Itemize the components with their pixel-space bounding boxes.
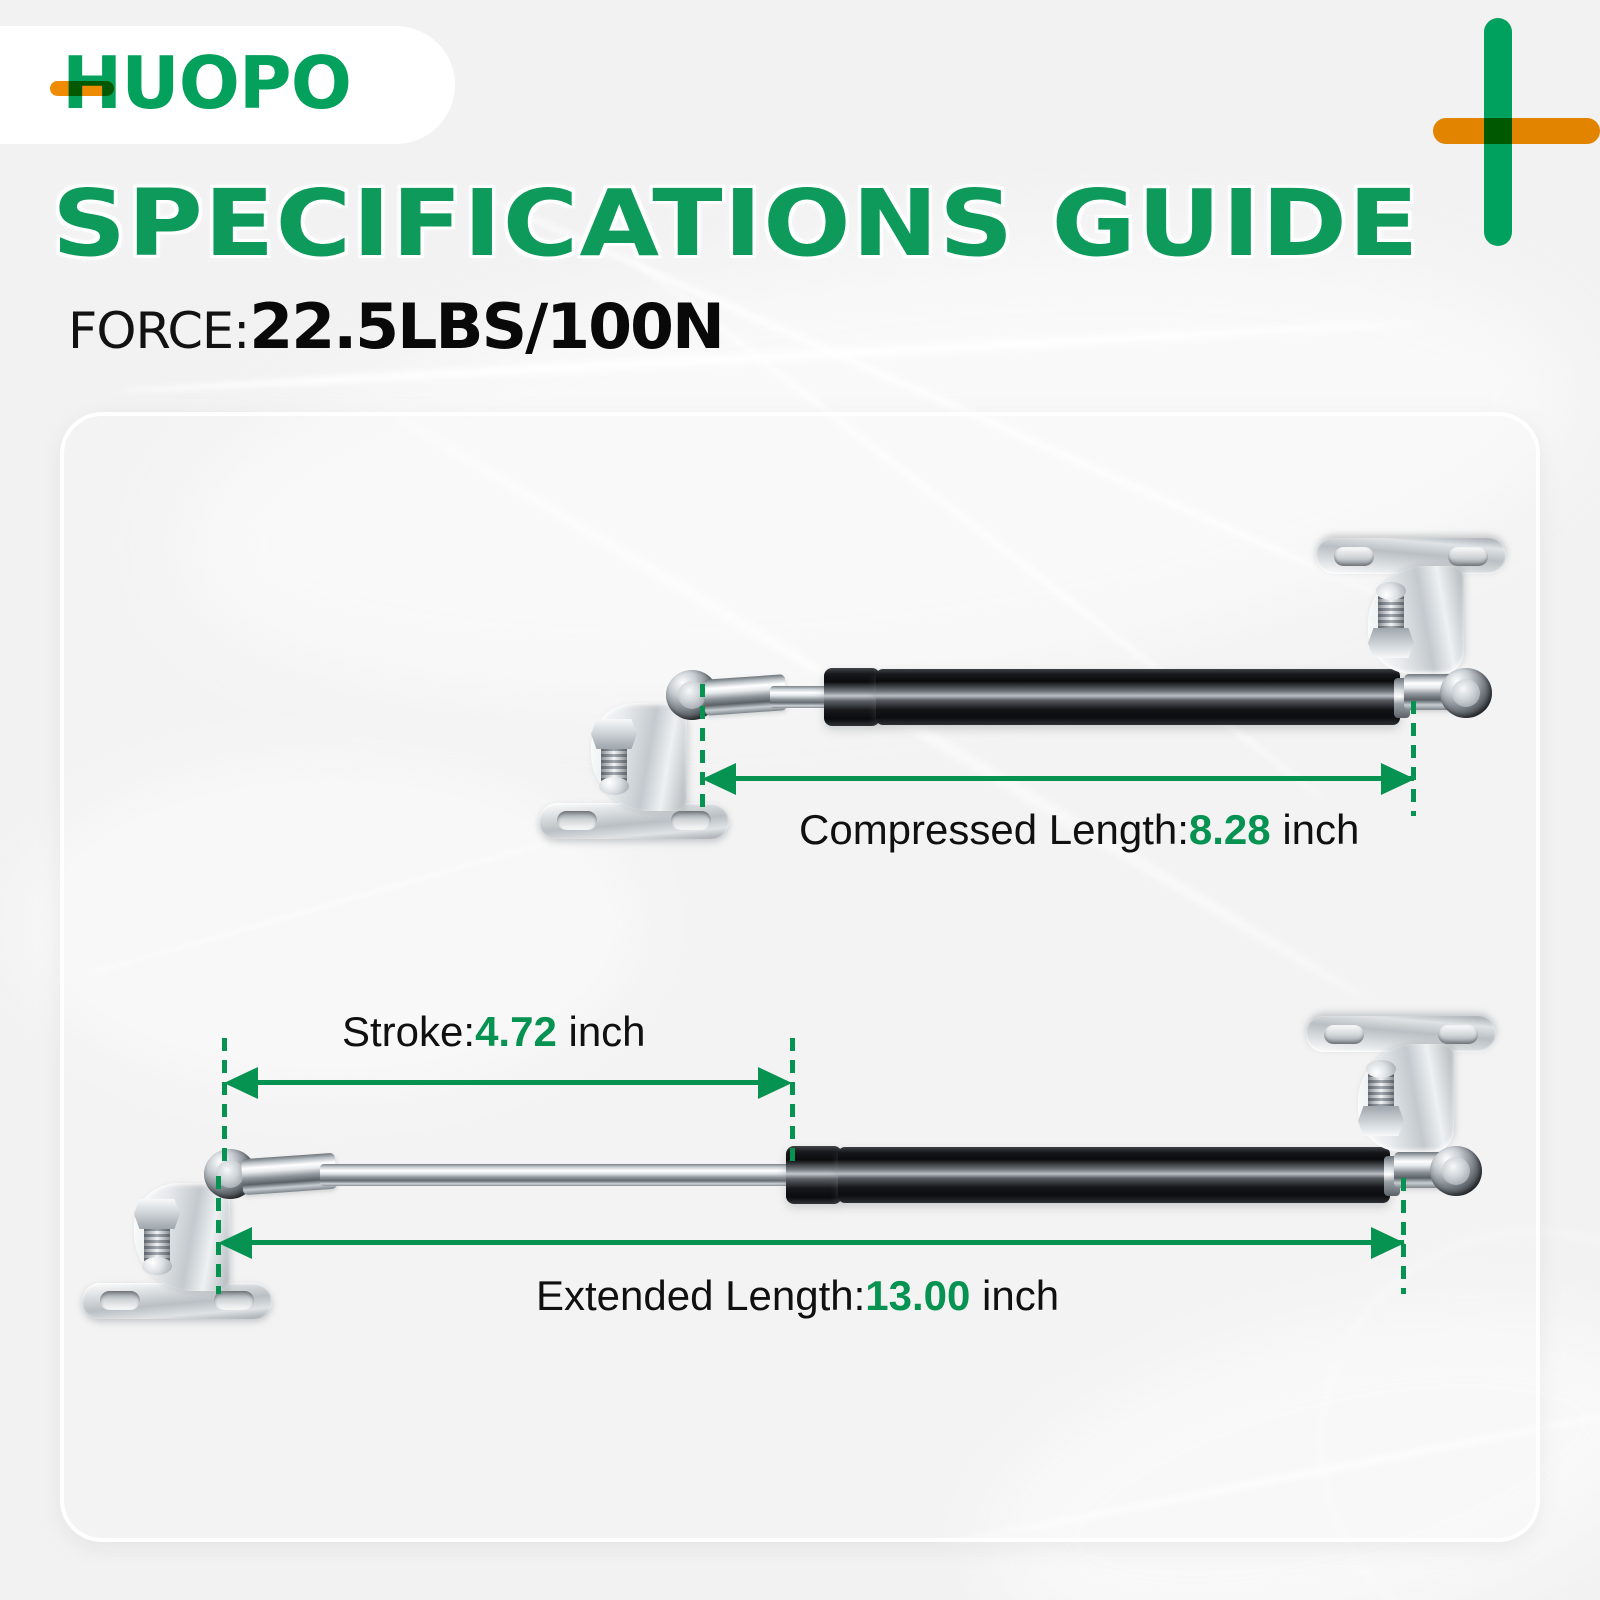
right-bracket-compressed	[1316, 536, 1506, 696]
stroke-label: Stroke:4.72 inch	[342, 1008, 646, 1056]
logo-plus-bar-icon	[50, 81, 114, 96]
compressed-dim-tick-right	[1411, 701, 1416, 816]
bracket-mount-hole	[1448, 547, 1488, 566]
force-label: FORCE:	[68, 302, 249, 360]
strut-end-collar-left	[824, 668, 880, 726]
extended-length-label: Extended Length:13.00 inch	[536, 1272, 1059, 1320]
force-spec: FORCE:22.5LBS/100N	[68, 290, 723, 363]
page-title: SPECIFICATIONS GUIDE	[52, 170, 1420, 277]
bracket-stud-cap	[142, 1257, 172, 1275]
bracket-mount-hole	[1438, 1025, 1478, 1044]
bracket-stud-cap	[1376, 582, 1406, 600]
force-value: 22.5LBS/100N	[249, 290, 723, 363]
spec-card: Compressed Length:8.28 inch	[60, 412, 1540, 1542]
bracket-mount-hole	[1334, 547, 1374, 566]
compressed-label-text: Compressed Length:	[799, 806, 1189, 853]
stroke-dim-tick-left	[222, 1038, 227, 1170]
compressed-dim-arrow-right	[1381, 763, 1415, 795]
bracket-hex-nut	[1368, 628, 1414, 658]
extended-value: 13.00	[865, 1272, 970, 1319]
specification-guide-page: HUOPO SPECIFICATIONS GUIDE FORCE:22.5LBS…	[0, 0, 1600, 1600]
bracket-mount-hole	[1324, 1025, 1364, 1044]
compressed-length-label: Compressed Length:8.28 inch	[799, 806, 1359, 854]
bracket-mount-hole	[100, 1291, 140, 1310]
extended-dim-line	[240, 1240, 1404, 1245]
stroke-dim-line	[244, 1080, 772, 1085]
logo-mark: HUOPO	[62, 51, 392, 119]
extended-dim-arrow-left	[218, 1227, 252, 1259]
strut-rod-extended	[320, 1164, 796, 1186]
bracket-stud-cap	[599, 777, 629, 795]
stroke-label-text: Stroke:	[342, 1008, 475, 1055]
stroke-unit: inch	[557, 1008, 646, 1055]
bracket-stud-cap	[1366, 1060, 1396, 1078]
compressed-dim-arrow-left	[702, 763, 736, 795]
cross-horizontal-bar	[1433, 118, 1600, 144]
cross-ornament-icon	[1398, 18, 1600, 246]
bracket-mount-hole	[671, 811, 711, 830]
extended-unit: inch	[970, 1272, 1059, 1319]
stroke-dim-tick-right	[790, 1038, 795, 1166]
stroke-dim-arrow-right	[758, 1067, 792, 1099]
right-bracket-extended	[1306, 1014, 1496, 1174]
stroke-dim-arrow-left	[224, 1067, 258, 1099]
compressed-unit: inch	[1271, 806, 1360, 853]
stroke-value: 4.72	[475, 1008, 557, 1055]
bracket-mount-hole	[557, 811, 597, 830]
bracket-hex-nut	[1358, 1106, 1404, 1136]
bracket-hex-nut	[591, 719, 637, 749]
bracket-hex-nut	[134, 1199, 180, 1229]
extended-label-text: Extended Length:	[536, 1272, 865, 1319]
compressed-value: 8.28	[1189, 806, 1271, 853]
compressed-dim-line	[724, 776, 1414, 781]
brand-logo: HUOPO	[0, 26, 455, 144]
extended-dim-arrow-right	[1371, 1227, 1405, 1259]
